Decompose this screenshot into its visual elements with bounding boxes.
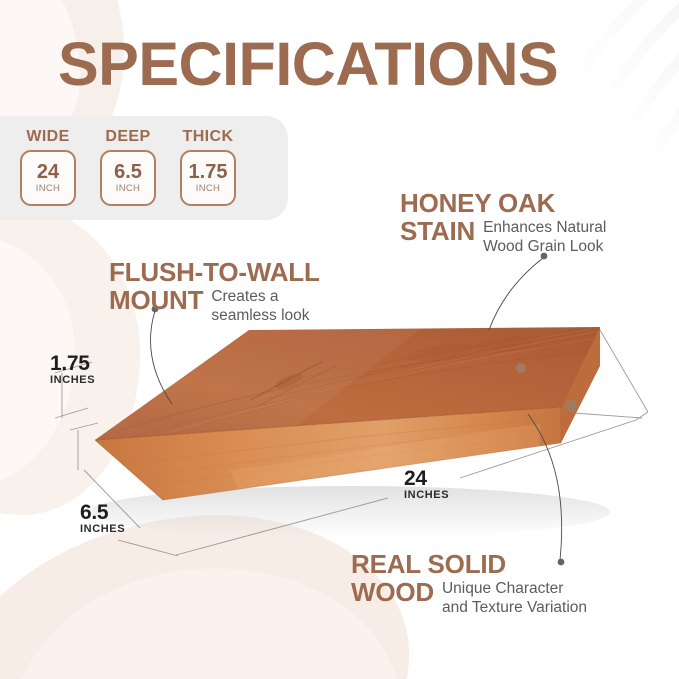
callout-desc-line1: Enhances Natural [483,219,606,236]
wood-shelf-body [95,327,604,500]
callout-honey-oak-stain: HONEY OAK STAIN Enhances Natural Wood Gr… [400,190,606,257]
spec-chip-value: 1.75 [189,162,228,182]
spec-chip-unit: INCH [196,184,220,194]
dimension-unit: INCHES [80,524,125,536]
spec-chip-label: WIDE [16,128,80,146]
callout-heading-line1: REAL SOLID [351,551,587,579]
spec-chip-unit: INCH [116,184,140,194]
mount-hole-top [516,363,526,373]
spec-chip-value: 24 [37,162,59,182]
spec-chip-label: DEEP [96,128,160,146]
callout-desc-line2: seamless look [211,307,309,324]
spec-chip-label: THICK [176,128,240,146]
mount-hole-edge [565,400,577,412]
callout-second-row: WOOD Unique Character and Texture Variat… [351,579,587,618]
page-title: SPECIFICATIONS [58,34,558,95]
callout-second-row: MOUNT Creates a seamless look [109,287,320,326]
infographic-canvas: SPECIFICATIONS WIDE 24 INCH DEEP 6.5 INC… [0,0,679,679]
callout-second-row: STAIN Enhances Natural Wood Grain Look [400,218,606,257]
spec-chip-box: 6.5 INCH [100,150,156,206]
spec-chip-box: 24 INCH [20,150,76,206]
spec-chip-unit: INCH [36,184,60,194]
dimension-unit: INCHES [50,375,95,387]
spec-chip-box: 1.75 INCH [180,150,236,206]
decor-wave-bottom-inner [0,553,411,679]
spec-chip-row: WIDE 24 INCH DEEP 6.5 INCH THICK 1.75 IN… [0,116,240,206]
callout-desc-line2: and Texture Variation [442,599,587,616]
spec-chip-thick: THICK 1.75 INCH [176,128,240,206]
dimension-guides [55,330,648,556]
spec-chip-wide: WIDE 24 INCH [16,128,80,206]
callout-heading-line2: WOOD [351,579,434,607]
dimension-value: 6.5 [80,502,125,524]
dimension-unit: INCHES [404,490,449,502]
dimension-value: 24 [404,468,449,490]
callout-description: Enhances Natural Wood Grain Look [483,218,606,257]
spec-chip-deep: DEEP 6.5 INCH [96,128,160,206]
callout-desc-line2: Wood Grain Look [483,238,603,255]
callout-real-solid-wood: REAL SOLID WOOD Unique Character and Tex… [351,551,587,618]
callout-heading-line2: MOUNT [109,287,203,315]
dimension-label-thickness: 1.75 INCHES [50,353,95,387]
callout-flush-to-wall-mount: FLUSH-TO-WALL MOUNT Creates a seamless l… [109,259,320,326]
callout-desc-line1: Unique Character [442,580,563,597]
specifications-panel: WIDE 24 INCH DEEP 6.5 INCH THICK 1.75 IN… [0,116,288,220]
dimension-value: 1.75 [50,353,95,375]
callout-heading-line1: FLUSH-TO-WALL [109,259,320,287]
callout-desc-line1: Creates a [211,288,278,305]
callout-heading-line1: HONEY OAK [400,190,606,218]
spec-chip-value: 6.5 [114,162,142,182]
dimension-label-depth: 6.5 INCHES [80,502,125,536]
callout-description: Creates a seamless look [211,287,309,326]
dimension-label-width: 24 INCHES [404,468,449,502]
callout-heading-line2: STAIN [400,218,475,246]
callout-description: Unique Character and Texture Variation [442,579,587,618]
